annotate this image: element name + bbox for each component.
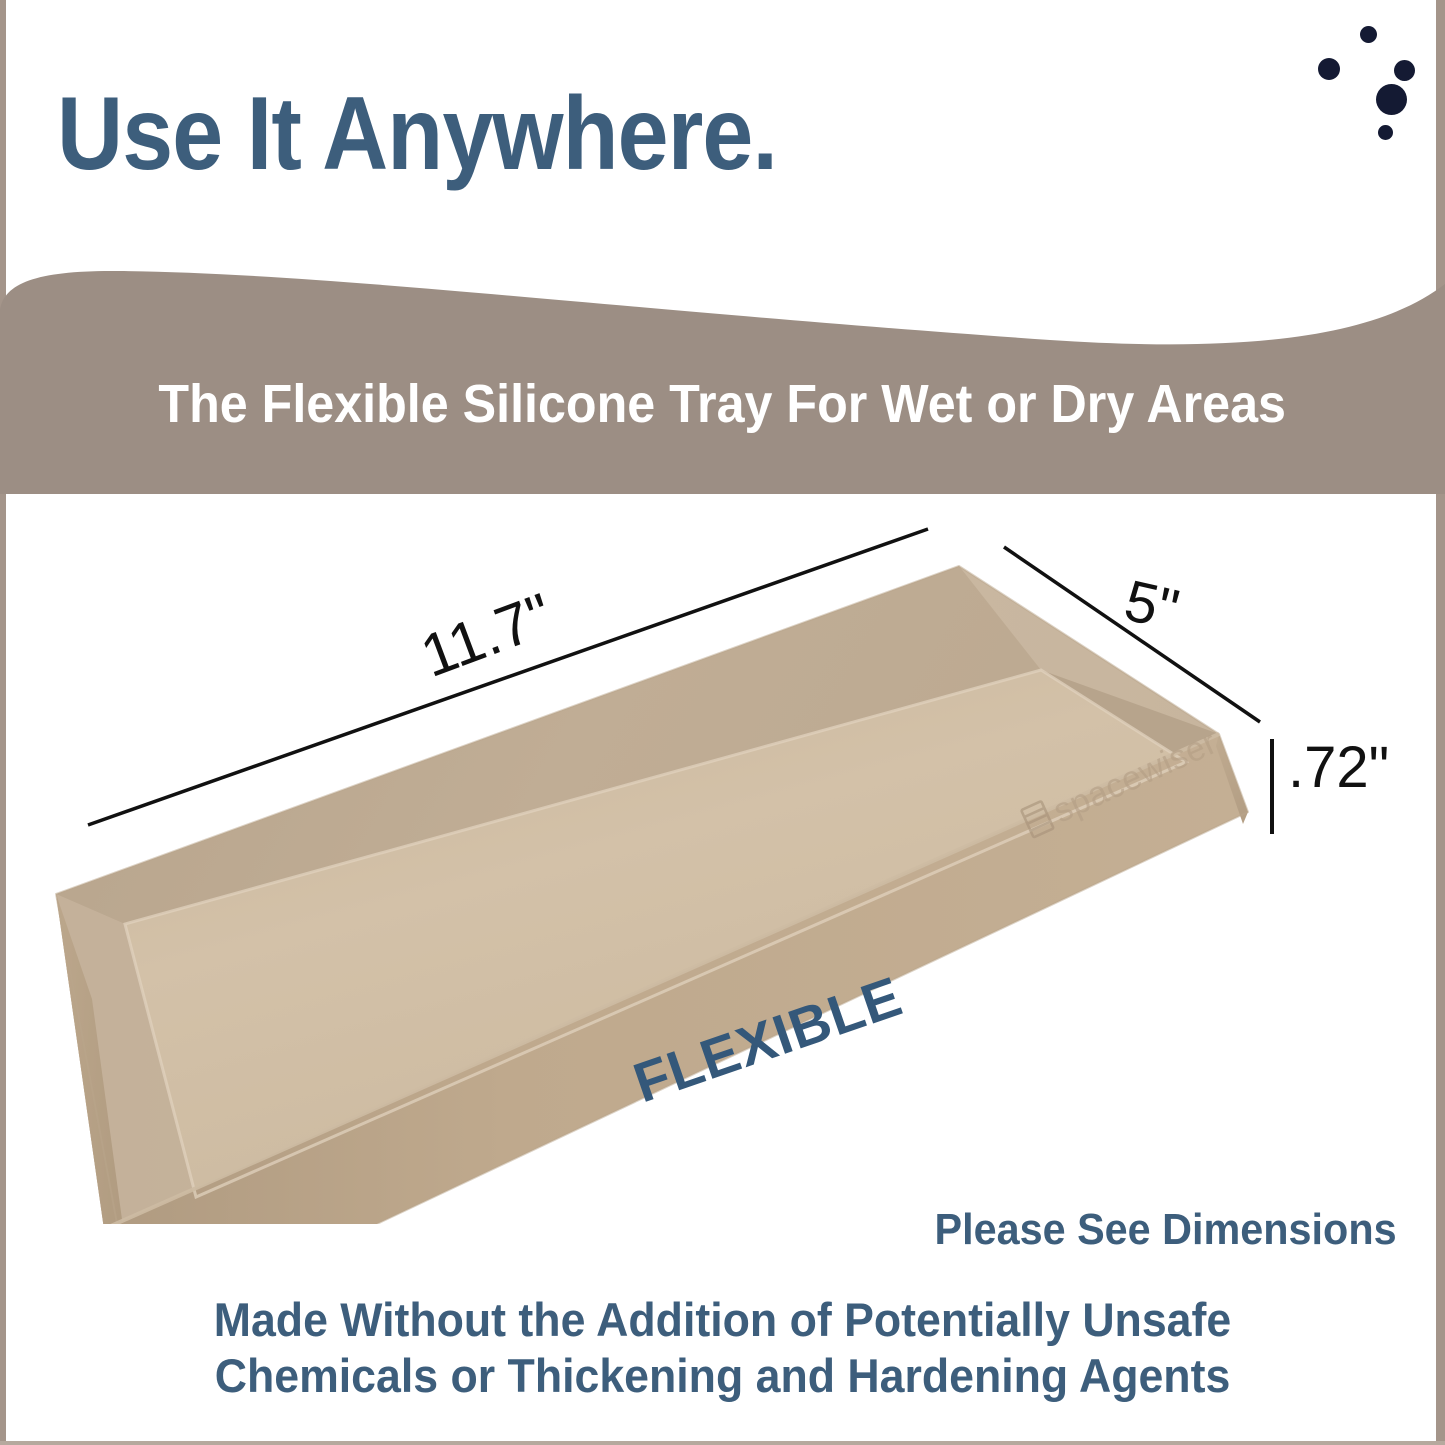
dot-5 (1378, 125, 1393, 140)
see-dimensions-text: Please See Dimensions (935, 1205, 1397, 1255)
bottom-edge-strip (0, 1441, 1445, 1445)
page-headline: Use It Anywhere. (57, 82, 777, 186)
dot-1 (1360, 26, 1377, 43)
product-illustration: spacewiser 11.7" 5" .72" FLEXIBLE (0, 494, 1445, 1224)
subtitle-banner: The Flexible Silicone Tray For Wet or Dr… (0, 262, 1445, 494)
dot-3 (1394, 60, 1415, 81)
banner-text-wrap: The Flexible Silicone Tray For Wet or Dr… (0, 262, 1445, 494)
product-infographic: Use It Anywhere. The Flexible Silicone T… (0, 0, 1445, 1445)
disclaimer-block: Made Without the Addition of Potentially… (0, 1292, 1445, 1405)
banner-subtitle: The Flexible Silicone Tray For Wet or Dr… (159, 373, 1287, 435)
height-dimension-label: .72" (1288, 734, 1389, 801)
disclaimer-line-1: Made Without the Addition of Potentially… (36, 1292, 1409, 1348)
dot-2 (1318, 58, 1340, 80)
disclaimer-line-2: Chemicals or Thickening and Hardening Ag… (36, 1348, 1409, 1404)
dot-4 (1376, 84, 1407, 115)
decorative-dots-group (1290, 20, 1445, 165)
tray-3d-body (56, 566, 1248, 1224)
